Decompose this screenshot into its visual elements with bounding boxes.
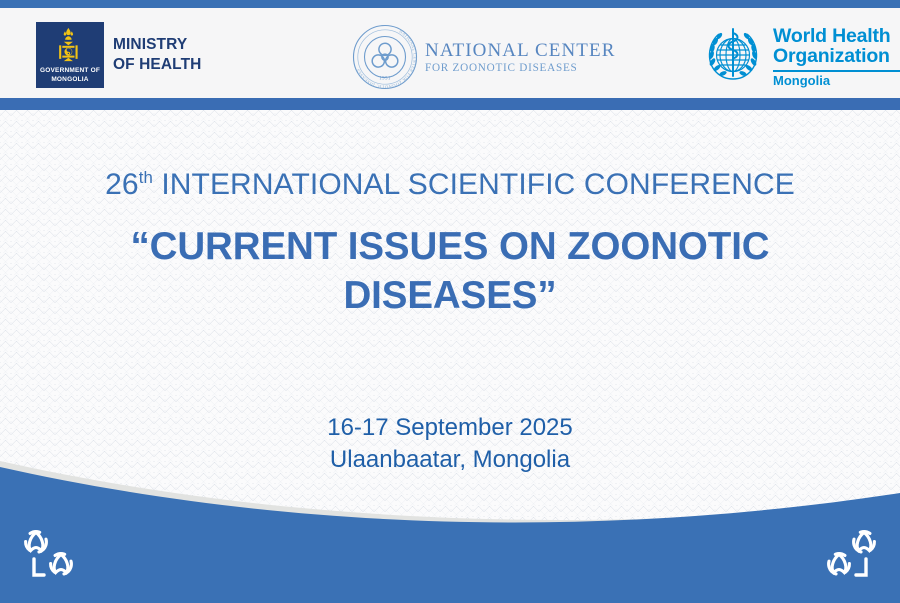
seal-year: 1951 [379, 77, 391, 82]
conference-title-slide: GOVERNMENT OF MONGOLIA MINISTRY OF HEALT… [0, 0, 900, 603]
who-wordmark: World Health Organization Mongolia [773, 27, 900, 87]
crest-line-1: GOVERNMENT OF [36, 67, 104, 74]
ministry-of-health-name: MINISTRY OF HEALTH [113, 35, 201, 76]
ministry-name-line-1: MINISTRY [113, 35, 201, 55]
conference-dates: 16-17 September 2025 [0, 412, 900, 444]
conference-headline: 26th INTERNATIONAL SCIENTIFIC CONFERENCE… [0, 168, 900, 321]
conference-edition-line: 26th INTERNATIONAL SCIENTIFIC CONFERENCE [0, 168, 900, 202]
who-country-label: Mongolia [773, 74, 900, 87]
mongolian-ulzii-knot-ornament-left [14, 523, 90, 589]
edition-number: 26 [105, 168, 139, 201]
crest-line-2: MONGOLIA [36, 76, 104, 83]
header-separator-bar [0, 98, 900, 110]
logo-row: GOVERNMENT OF MONGOLIA MINISTRY OF HEALT… [0, 8, 900, 98]
top-accent-bar [0, 0, 900, 8]
ministry-name-line-2: OF HEALTH [113, 55, 201, 75]
who-line-1: World Health [773, 27, 900, 47]
national-center-logo: 1951 NATIONAL CENTER FOR ZOONOTIC DISEAS… [352, 24, 615, 90]
mongolia-government-crest: GOVERNMENT OF MONGOLIA [36, 22, 104, 88]
who-logo: World Health Organization Mongolia [700, 24, 900, 90]
bottom-wave-decoration [0, 443, 900, 603]
conference-theme-title: “CURRENT ISSUES ON ZOONOTIC DISEASES” [0, 222, 900, 321]
mongolian-ulzii-knot-ornament-right [810, 523, 886, 589]
national-center-subtitle: FOR ZOONOTIC DISEASES [425, 62, 615, 75]
who-emblem [700, 24, 766, 90]
national-center-name: NATIONAL CENTER FOR ZOONOTIC DISEASES [425, 40, 615, 75]
edition-line-rest: INTERNATIONAL SCIENTIFIC CONFERENCE [153, 168, 795, 201]
edition-ordinal-suffix: th [139, 168, 153, 187]
mongolia-soyombo-emblem [36, 26, 101, 66]
who-divider-rule [773, 70, 900, 72]
ministry-of-health-logo: GOVERNMENT OF MONGOLIA MINISTRY OF HEALT… [36, 22, 201, 88]
who-line-2: Organization [773, 47, 900, 67]
biohazard-seal: 1951 NATIONAL CENTER FOR ZOONOTIC DISEAS… [352, 24, 418, 90]
national-center-title: NATIONAL CENTER [425, 40, 615, 61]
